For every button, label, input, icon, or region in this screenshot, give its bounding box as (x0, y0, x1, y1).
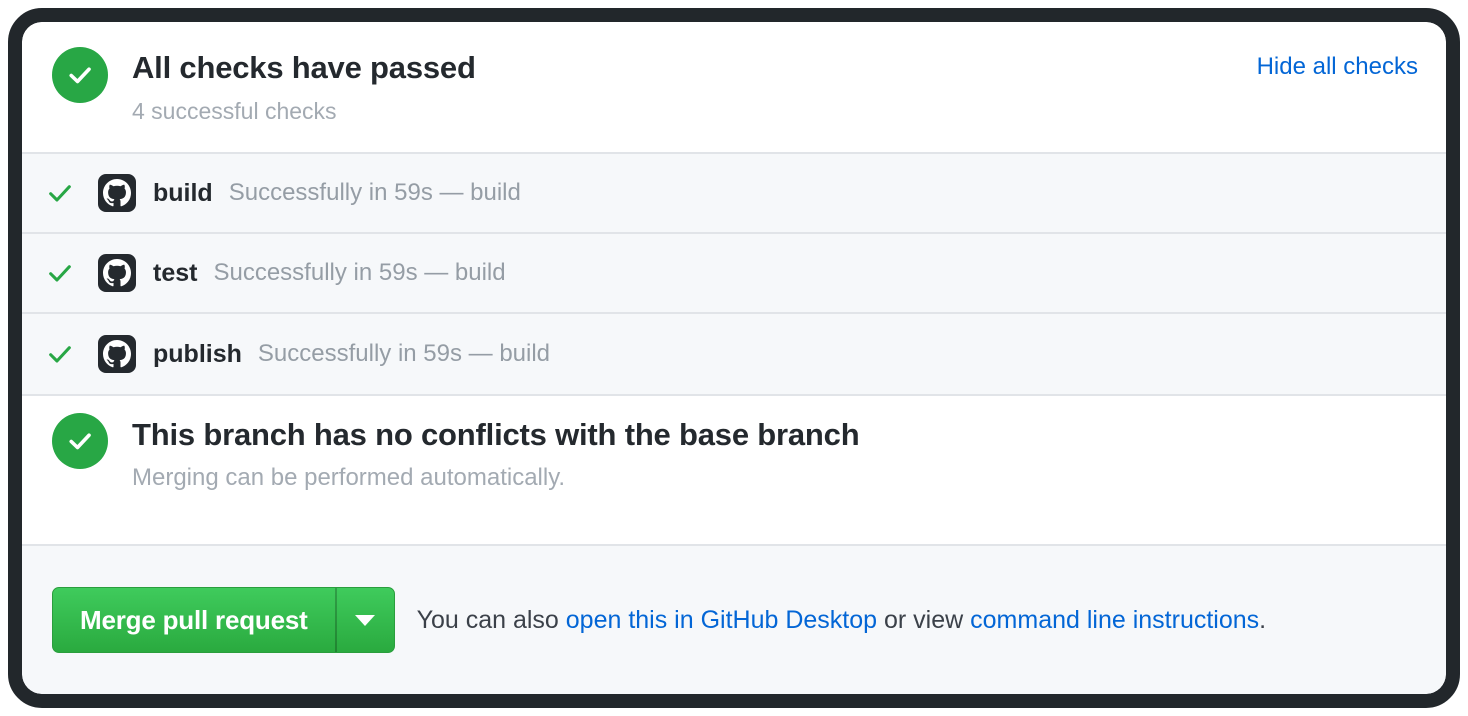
chevron-down-icon (355, 615, 375, 626)
check-name: build (153, 178, 213, 208)
check-icon (22, 259, 98, 287)
check-description: Successfully in 59s — build (229, 178, 521, 208)
table-row[interactable]: publish Successfully in 59s — build (22, 314, 1446, 394)
page-title: All checks have passed (132, 47, 476, 89)
screenshot-frame: All checks have passed 4 successful chec… (8, 8, 1460, 708)
conflicts-title: This branch has no conflicts with the ba… (132, 414, 859, 456)
check-icon (22, 179, 98, 207)
github-icon (98, 174, 136, 212)
check-name: test (153, 258, 197, 288)
check-name: publish (153, 339, 242, 369)
checks-header: All checks have passed 4 successful chec… (22, 22, 1446, 154)
merge-conflicts-section: This branch has no conflicts with the ba… (22, 394, 1446, 546)
checks-summary: 4 successful checks (132, 95, 337, 127)
merge-button-group: Merge pull request (52, 587, 395, 653)
github-icon (98, 254, 136, 292)
table-row[interactable]: test Successfully in 59s — build (22, 234, 1446, 314)
merge-footer: Merge pull request You can also open thi… (22, 546, 1446, 694)
check-circle-icon (52, 47, 108, 103)
check-description: Successfully in 59s — build (258, 339, 550, 369)
merge-pull-request-button[interactable]: Merge pull request (53, 588, 335, 652)
github-icon (98, 335, 136, 373)
merge-help-text: You can also open this in GitHub Desktop… (417, 603, 1267, 637)
command-line-instructions-link[interactable]: command line instructions (970, 606, 1259, 634)
check-description: Successfully in 59s — build (213, 258, 505, 288)
footer-text-suffix: . (1259, 606, 1266, 634)
github-desktop-link[interactable]: open this in GitHub Desktop (566, 606, 877, 634)
merge-options-dropdown-button[interactable] (337, 588, 394, 652)
checks-list: build Successfully in 59s — build test S… (22, 154, 1446, 394)
check-icon (22, 340, 98, 368)
hide-all-checks-link[interactable]: Hide all checks (1257, 50, 1418, 84)
table-row[interactable]: build Successfully in 59s — build (22, 154, 1446, 234)
merge-box-card: All checks have passed 4 successful chec… (22, 22, 1446, 694)
footer-text-middle: or view (877, 606, 970, 634)
conflicts-subtitle: Merging can be performed automatically. (132, 461, 565, 495)
footer-text-prefix: You can also (417, 606, 566, 634)
check-circle-icon (52, 413, 108, 469)
